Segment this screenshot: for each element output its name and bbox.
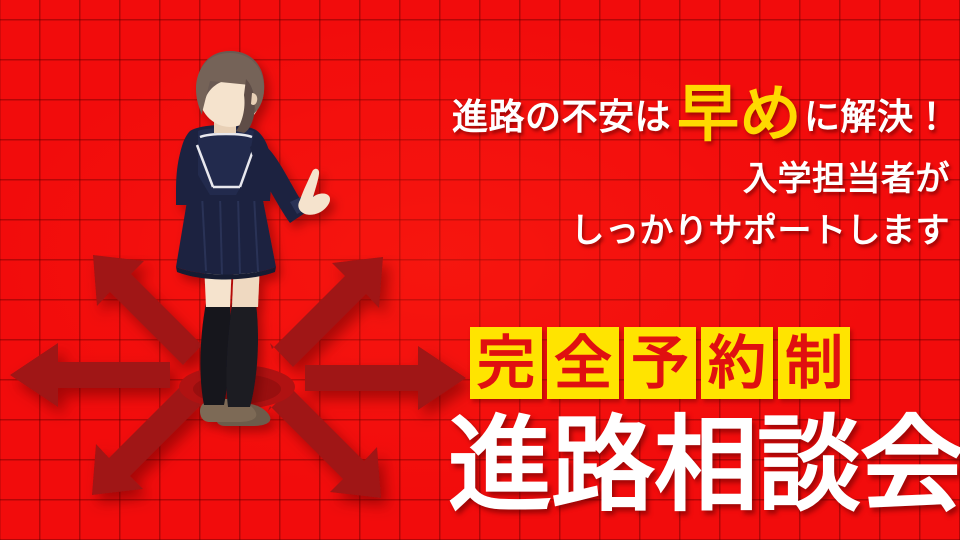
badge-char-5: 制: [778, 327, 850, 399]
headline-line1-post: に解決！: [804, 93, 950, 143]
headline-line-2: 入学担当者が: [360, 155, 950, 203]
headline-line-1: 進路の不安は 早め に解決！: [360, 78, 950, 143]
pointing-hand: [298, 169, 330, 215]
headline-line-3: しっかりサポートします: [360, 207, 950, 255]
schoolgirl-illustration: [140, 45, 370, 445]
headline-line1-pre: 進路の不安は: [452, 93, 671, 143]
headline-accent-hayame: 早め: [677, 84, 802, 144]
main-title: 進路相談会: [448, 409, 948, 521]
badge-char-2: 全: [547, 327, 619, 399]
badge-char-4: 約: [701, 327, 773, 399]
head: [196, 51, 264, 133]
badge-char-1: 完: [470, 327, 542, 399]
knee-socks: [200, 303, 258, 407]
headline-block: 進路の不安は 早め に解決！ 入学担当者が しっかりサポートします: [360, 78, 950, 255]
badge-char-3: 予: [624, 327, 696, 399]
reservation-required-badge-row: 完 全 予 約 制: [470, 327, 850, 399]
poster-canvas: 進路の不安は 早め に解決！ 入学担当者が しっかりサポートします 完 全 予 …: [0, 0, 960, 540]
pleated-skirt: [176, 195, 276, 280]
